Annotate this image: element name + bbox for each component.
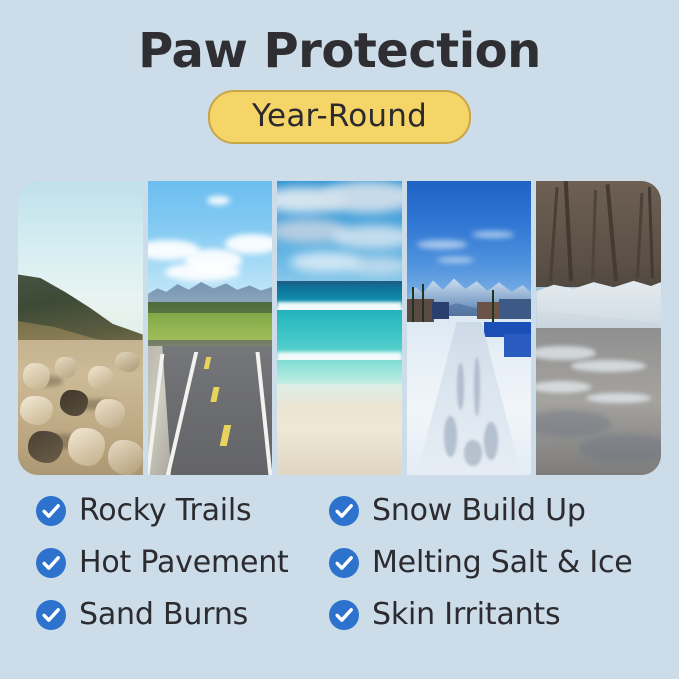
feature-item-skin-irritants[interactable]: Skin Irritants: [329, 596, 679, 634]
feature-item-rocky-trails[interactable]: Rocky Trails: [36, 492, 320, 530]
photo-panel-hot-pavement: [148, 181, 273, 475]
feature-column-right: Snow Build Up Melting Salt & Ice Skin Ir…: [320, 492, 679, 634]
year-round-badge: Year-Round: [208, 90, 471, 144]
feature-column-left: Rocky Trails Hot Pavement Sand Burns: [0, 492, 320, 634]
check-circle-icon: [329, 496, 359, 526]
feature-item-melting-salt-ice[interactable]: Melting Salt & Ice: [329, 544, 679, 582]
check-circle-icon: [36, 548, 66, 578]
photo-panel-sandy-beach: [277, 181, 402, 475]
features-section: Rocky Trails Hot Pavement Sand Burns Sno…: [0, 492, 679, 634]
feature-item-snow-build-up[interactable]: Snow Build Up: [329, 492, 679, 530]
photo-panel-rocky-trail: [18, 181, 143, 475]
check-circle-icon: [36, 600, 66, 630]
feature-label: Snow Build Up: [372, 496, 586, 526]
badge-wrap: Year-Round: [0, 90, 679, 144]
feature-item-sand-burns[interactable]: Sand Burns: [36, 596, 320, 634]
photo-panel-melting-slush: [536, 181, 661, 475]
photo-strip: [18, 181, 661, 475]
photo-panel-snowy-road: [407, 181, 532, 475]
page-title: Paw Protection: [0, 26, 679, 78]
feature-label: Melting Salt & Ice: [372, 548, 633, 578]
feature-label: Skin Irritants: [372, 600, 560, 630]
check-circle-icon: [36, 496, 66, 526]
feature-label: Hot Pavement: [79, 548, 289, 578]
feature-item-hot-pavement[interactable]: Hot Pavement: [36, 544, 320, 582]
header: Paw Protection Year-Round: [0, 0, 679, 144]
check-circle-icon: [329, 600, 359, 630]
check-circle-icon: [329, 548, 359, 578]
feature-label: Sand Burns: [79, 600, 248, 630]
feature-label: Rocky Trails: [79, 496, 251, 526]
